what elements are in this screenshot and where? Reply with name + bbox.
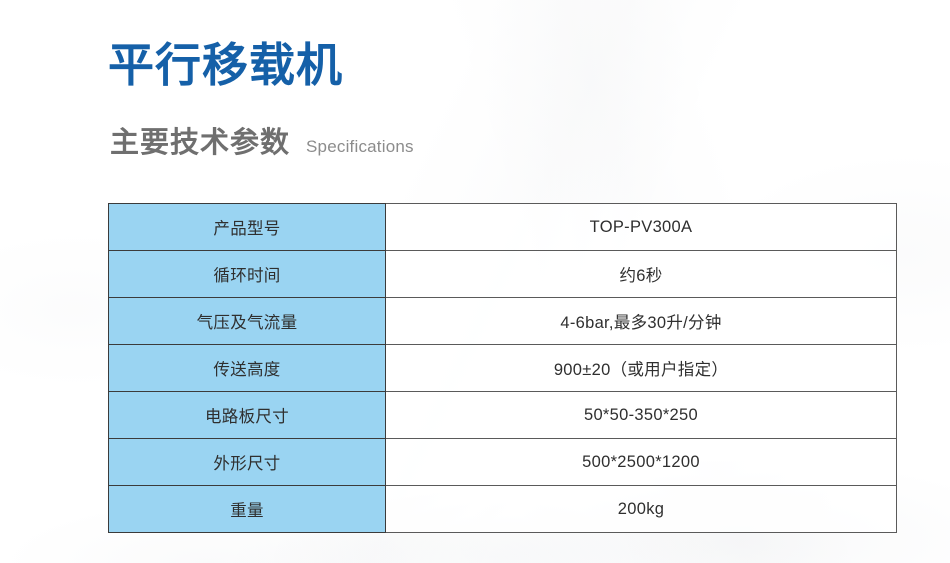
product-spec-page: 平行移载机 主要技术参数 Specifications 产品型号 TOP-PV3… (0, 0, 950, 563)
table-row: 循环时间 约6秒 (109, 251, 897, 298)
spec-value: 200kg (386, 486, 897, 533)
spec-label: 电路板尺寸 (109, 392, 386, 439)
table-row: 产品型号 TOP-PV300A (109, 204, 897, 251)
table-row: 传送高度 900±20（或用户指定） (109, 345, 897, 392)
table-row: 外形尺寸 500*2500*1200 (109, 439, 897, 486)
table-row: 电路板尺寸 50*50-350*250 (109, 392, 897, 439)
section-heading-en: Specifications (306, 136, 414, 158)
spec-value: 500*2500*1200 (386, 439, 897, 486)
spec-label: 气压及气流量 (109, 298, 386, 345)
spec-value: 50*50-350*250 (386, 392, 897, 439)
spec-label: 重量 (109, 486, 386, 533)
spec-value: 约6秒 (386, 251, 897, 298)
spec-value: 900±20（或用户指定） (386, 345, 897, 392)
specifications-table: 产品型号 TOP-PV300A 循环时间 约6秒 气压及气流量 4-6bar,最… (108, 203, 897, 533)
table-row: 气压及气流量 4-6bar,最多30升/分钟 (109, 298, 897, 345)
section-heading-cn: 主要技术参数 (110, 126, 290, 160)
spec-label: 产品型号 (109, 204, 386, 251)
spec-label: 循环时间 (109, 251, 386, 298)
section-heading: 主要技术参数 Specifications (110, 126, 414, 160)
page-title: 平行移载机 (108, 36, 343, 94)
spec-label: 传送高度 (109, 345, 386, 392)
specifications-table-container: 产品型号 TOP-PV300A 循环时间 约6秒 气压及气流量 4-6bar,最… (108, 203, 896, 533)
spec-value: TOP-PV300A (386, 204, 897, 251)
spec-label: 外形尺寸 (109, 439, 386, 486)
specifications-table-body: 产品型号 TOP-PV300A 循环时间 约6秒 气压及气流量 4-6bar,最… (109, 204, 897, 533)
spec-value: 4-6bar,最多30升/分钟 (386, 298, 897, 345)
table-row: 重量 200kg (109, 486, 897, 533)
